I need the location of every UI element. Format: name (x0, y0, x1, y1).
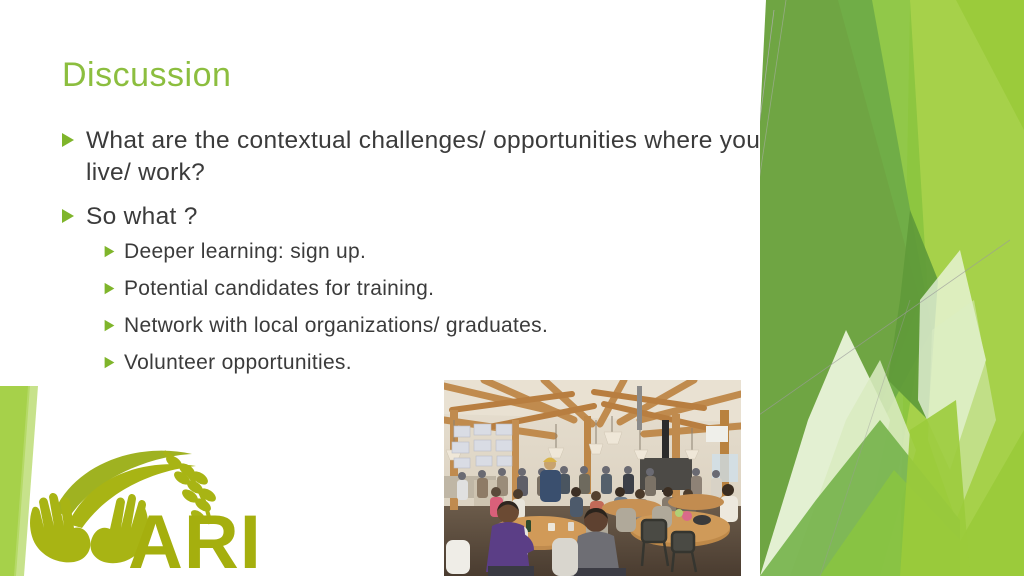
bullet-text: Deeper learning: sign up. (124, 239, 366, 265)
bullet-text: So what ? (86, 201, 198, 233)
bullet-text: Volunteer opportunities. (124, 350, 352, 376)
slide-body: What are the contextual challenges/ oppo… (60, 125, 790, 388)
triangle-right-bullet-icon (60, 201, 86, 224)
bullet-text: Potential candidates for training. (124, 276, 434, 302)
dining-hall-photo (444, 380, 741, 576)
sub-list: Deeper learning: sign up. Potential cand… (60, 239, 790, 377)
bullet-text: What are the contextual challenges/ oppo… (86, 125, 790, 189)
triangle-right-bullet-icon (60, 125, 86, 148)
page-title: Discussion (62, 56, 231, 95)
presentation-slide: Discussion What are the contextual chall… (0, 0, 1024, 576)
facet-decoration-right (760, 0, 1024, 576)
list-item: Potential candidates for training. (103, 276, 790, 302)
list-item: Network with local organizations/ gradua… (103, 313, 790, 339)
list-item: Deeper learning: sign up. (103, 239, 790, 265)
triangle-right-bullet-icon (103, 313, 124, 332)
logo-wordmark: ARI (128, 500, 262, 576)
ari-logo: ARI (24, 440, 276, 576)
triangle-right-bullet-icon (103, 350, 124, 369)
list-item: What are the contextual challenges/ oppo… (60, 125, 790, 189)
triangle-right-bullet-icon (103, 276, 124, 295)
list-item: Volunteer opportunities. (103, 350, 790, 376)
list-item: So what ? (60, 201, 790, 233)
triangle-right-bullet-icon (103, 239, 124, 258)
bullet-text: Network with local organizations/ gradua… (124, 313, 548, 339)
